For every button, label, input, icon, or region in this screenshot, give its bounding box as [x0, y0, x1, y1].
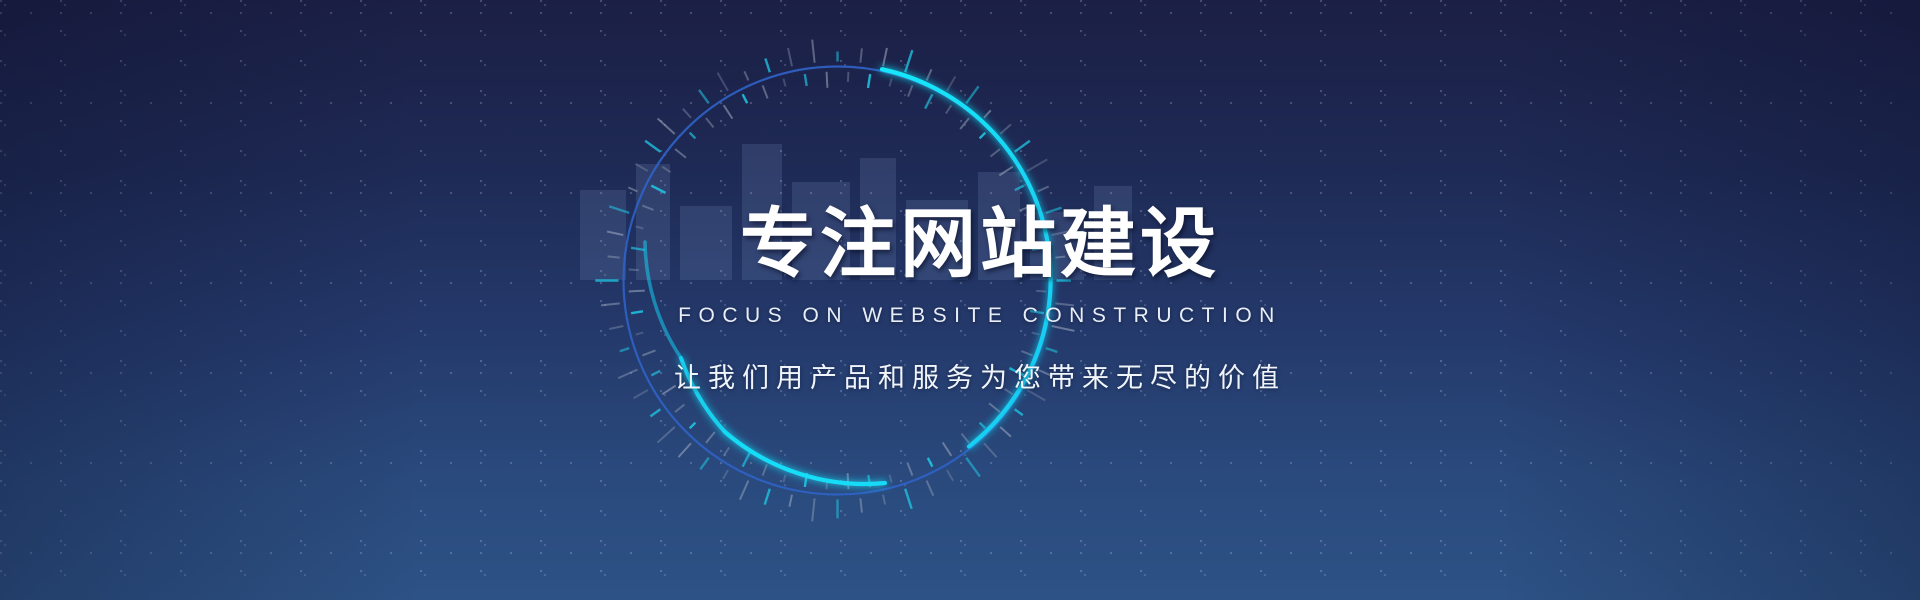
banner-headline: 专注网站建设 — [740, 206, 1220, 282]
hero-banner: {} 专注网站建设 FOCUS ON WEBSITE CONSTRUCTION … — [0, 0, 1920, 600]
banner-text-stack: 专注网站建设 FOCUS ON WEBSITE CONSTRUCTION 让我们… — [0, 0, 1920, 600]
banner-subtitle-english: FOCUS ON WEBSITE CONSTRUCTION — [678, 304, 1282, 328]
banner-tagline: 让我们用产品和服务为您带来无尽的价值 — [674, 356, 1286, 395]
